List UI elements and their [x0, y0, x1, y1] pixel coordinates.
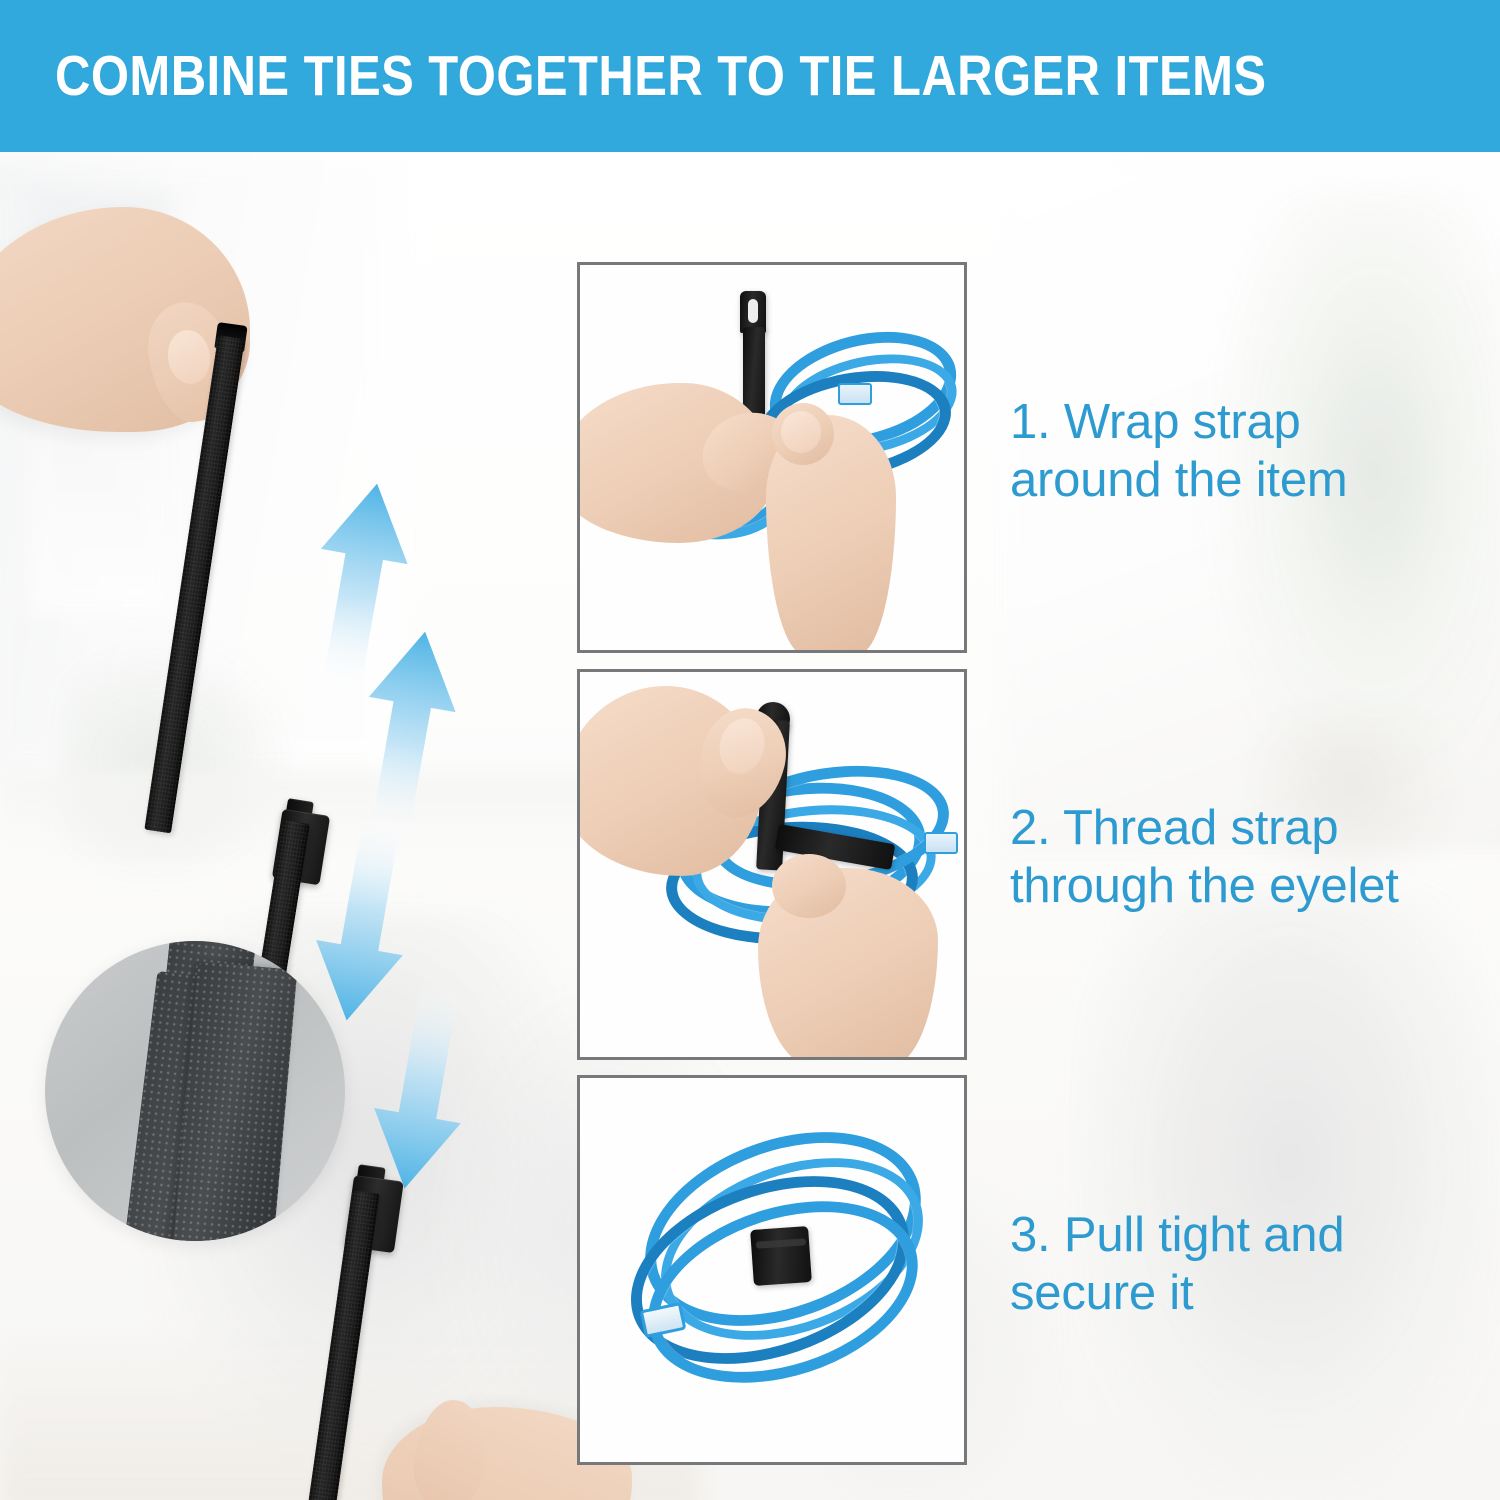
- background-chair-right: [1080, 892, 1500, 1492]
- header-banner: COMBINE TIES TOGETHER TO TIE LARGER ITEM…: [0, 0, 1500, 152]
- hand-right-thumbnail: [781, 411, 821, 453]
- tie-eyelet-hole: [748, 299, 758, 323]
- step-photo-thread-eyelet: [580, 672, 964, 1057]
- content-stage: 1. Wrap straparound the item 2. Thread s…: [0, 152, 1500, 1500]
- step-label-2: 2. Thread strapthrough the eyelet: [1010, 800, 1480, 916]
- buckle-closeup-inset: [45, 941, 345, 1241]
- step-photo-panel-3: [577, 1075, 967, 1465]
- step-photo-wrap-strap: [580, 265, 964, 650]
- step-label-1: 1. Wrap straparound the item: [1010, 394, 1480, 510]
- rj45-connector: [838, 383, 872, 405]
- step-photo-panel-1: [577, 262, 967, 653]
- hero-product-photo: [0, 152, 560, 1500]
- step-label-3: 3. Pull tight andsecure it: [1010, 1207, 1480, 1323]
- hand-right-thumb: [772, 854, 846, 918]
- step-photo-panel-2: [577, 669, 967, 1060]
- tie-secured: [750, 1226, 812, 1286]
- banner-title: COMBINE TIES TOGETHER TO TIE LARGER ITEM…: [0, 43, 1266, 109]
- strap-segment-lower: [308, 1190, 380, 1500]
- arrow-down-2: [361, 974, 484, 1196]
- rj45-connector: [924, 832, 958, 854]
- step-photo-pull-tight: [580, 1078, 964, 1462]
